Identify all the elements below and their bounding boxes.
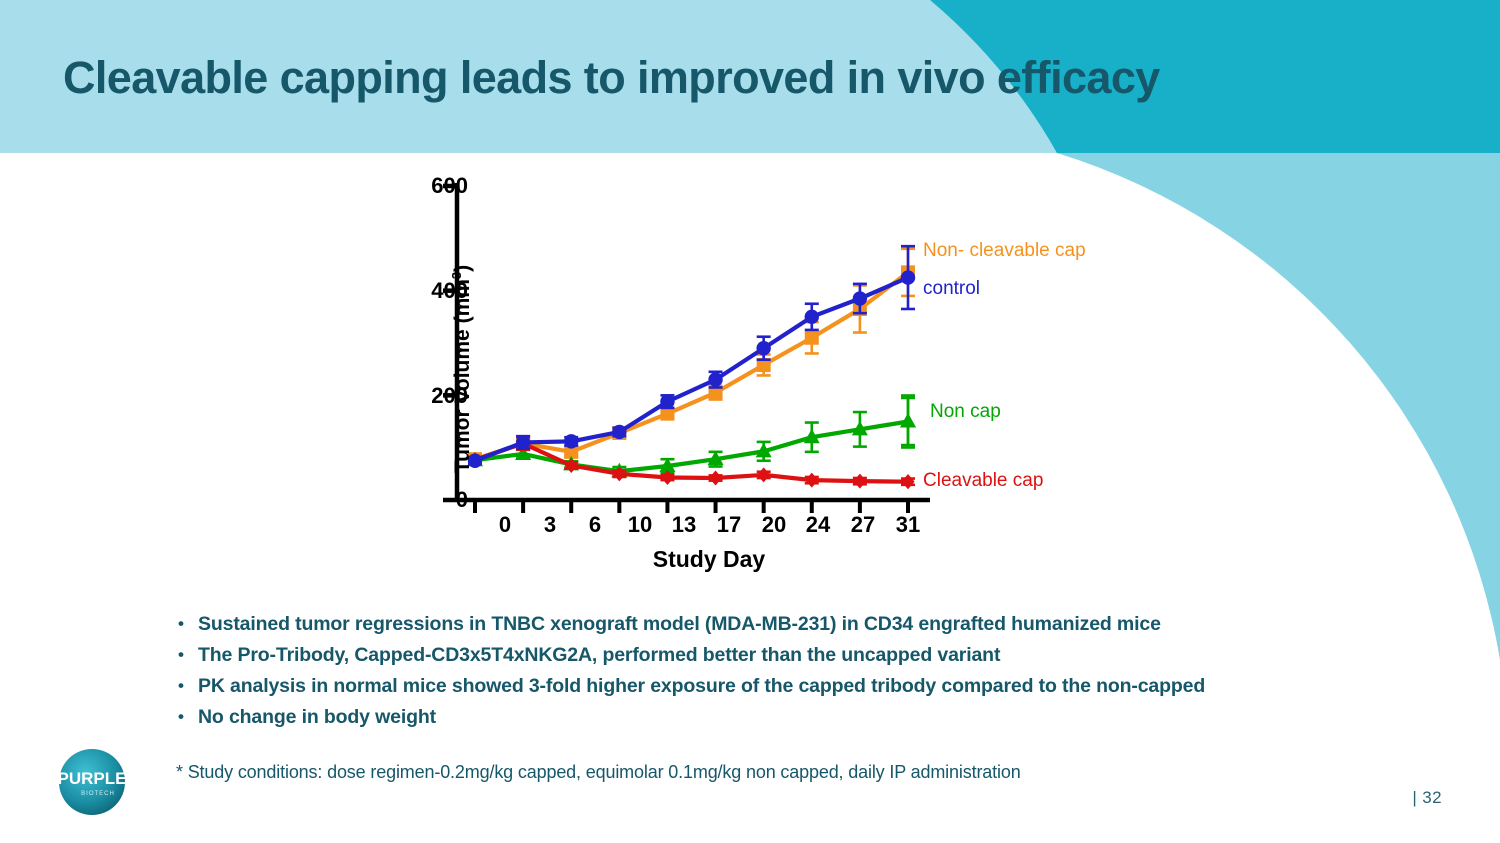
bullet-text: PK analysis in normal mice showed 3-fold… [198, 674, 1205, 698]
x-tick-10: 10 [620, 512, 660, 538]
page-number: | 32 [1412, 788, 1442, 808]
series-label-cleavable-cap: Cleavable cap [923, 470, 1043, 492]
x-tick-6: 6 [575, 512, 615, 538]
data-point-marker [805, 473, 818, 488]
series-label-non-cap: Non cap [930, 401, 1001, 423]
data-point-marker [901, 270, 915, 284]
y-tick-0: 0 [398, 487, 468, 513]
series-non-cap [467, 398, 916, 477]
data-point-marker [902, 474, 915, 489]
data-point-marker [805, 331, 819, 345]
chart-legend [900, 396, 916, 490]
footnote: * Study conditions: dose regimen-0.2mg/k… [176, 762, 1021, 783]
data-point-marker [756, 341, 770, 355]
x-tick-27: 27 [843, 512, 883, 538]
series-label-non-cleavable-cap: Non- cleavable cap [923, 240, 1086, 262]
y-tick-200: 200 [398, 383, 468, 409]
data-point-marker [853, 291, 867, 305]
x-tick-31: 31 [888, 512, 928, 538]
list-item: • No change in body weight [170, 705, 1420, 729]
purple-biotech-logo: PURPLE BIOTECH [52, 742, 132, 822]
bullet-text: Sustained tumor regressions in TNBC xeno… [198, 612, 1161, 636]
list-item: • Sustained tumor regressions in TNBC xe… [170, 612, 1420, 636]
logo-subtext: BIOTECH [81, 791, 115, 797]
series-control [468, 246, 915, 468]
chart-plot-area [370, 160, 1110, 560]
data-point-marker [516, 435, 530, 449]
x-tick-3: 3 [530, 512, 570, 538]
bullet-list: • Sustained tumor regressions in TNBC xe… [170, 612, 1420, 736]
x-tick-24: 24 [798, 512, 838, 538]
logo-wordmark: PURPLE [58, 769, 127, 788]
series-non-cleavable-cap [468, 249, 915, 466]
tumor-volume-chart: Tumor Volume (mm3) 600 400 200 0 0 3 6 1… [370, 160, 1110, 590]
bullet-marker: • [170, 674, 198, 698]
bullet-marker: • [170, 612, 198, 636]
slide: Cleavable capping leads to improved in v… [0, 0, 1500, 843]
page-title: Cleavable capping leads to improved in v… [63, 52, 1160, 104]
corner-accent-arc [1057, 153, 1500, 660]
y-tick-400: 400 [398, 278, 468, 304]
list-item: • PK analysis in normal mice showed 3-fo… [170, 674, 1420, 698]
data-point-marker [612, 425, 626, 439]
x-axis-title: Study Day [599, 546, 819, 573]
series-label-control: control [923, 278, 980, 300]
y-tick-600: 600 [398, 173, 468, 199]
bullet-text: No change in body weight [198, 705, 436, 729]
bullet-text: The Pro-Tribody, Capped-CD3x5T4xNKG2A, p… [198, 643, 1000, 667]
x-tick-20: 20 [754, 512, 794, 538]
data-point-marker [709, 471, 722, 486]
bullet-marker: • [170, 705, 198, 729]
data-point-marker [805, 310, 819, 324]
data-point-marker [708, 372, 722, 386]
data-point-marker [564, 434, 578, 448]
data-point-marker [757, 467, 770, 482]
list-item: • The Pro-Tribody, Capped-CD3x5T4xNKG2A,… [170, 643, 1420, 667]
data-point-marker [853, 474, 866, 489]
x-tick-0: 0 [485, 512, 525, 538]
x-tick-13: 13 [664, 512, 704, 538]
data-point-marker [900, 413, 916, 428]
x-tick-17: 17 [709, 512, 749, 538]
data-point-marker [660, 394, 674, 408]
bullet-marker: • [170, 643, 198, 667]
